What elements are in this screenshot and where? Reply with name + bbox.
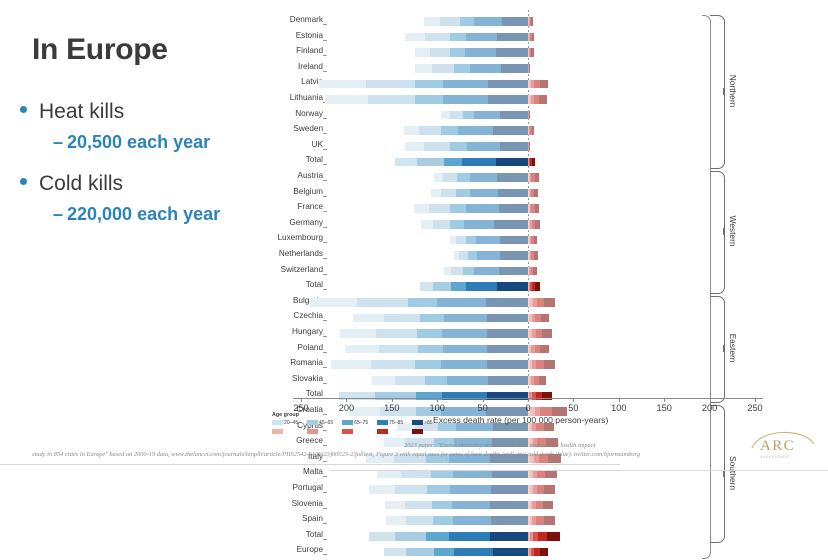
chart-row: Total bbox=[260, 154, 760, 170]
cold-segment bbox=[494, 220, 528, 229]
heat-bar bbox=[528, 64, 530, 73]
legend-item: 45–65 bbox=[307, 420, 318, 434]
chart-row: Ireland bbox=[260, 61, 760, 77]
cold-segment bbox=[490, 501, 528, 510]
page-title: In Europe bbox=[32, 33, 168, 67]
bullet-dot-icon bbox=[20, 178, 27, 185]
heat-bar bbox=[528, 111, 530, 120]
chart-row: Latvia bbox=[260, 76, 760, 92]
axis-tick bbox=[323, 508, 327, 509]
heat-segment bbox=[544, 298, 555, 307]
heat-bar bbox=[528, 298, 555, 307]
heat-bar bbox=[528, 220, 540, 229]
cold-segment bbox=[502, 17, 528, 26]
cold-segment bbox=[498, 189, 528, 198]
cold-segment bbox=[496, 48, 528, 57]
cold-segment bbox=[442, 329, 487, 338]
cold-segment bbox=[464, 220, 494, 229]
heat-segment bbox=[532, 33, 535, 42]
cold-segment bbox=[453, 516, 491, 525]
heat-bar bbox=[528, 189, 538, 198]
cold-segment bbox=[345, 345, 380, 354]
legend-cold-swatch bbox=[377, 420, 388, 425]
bullet-dot-icon bbox=[20, 106, 27, 113]
chart-row: Europe bbox=[260, 544, 760, 560]
chart-row: Total bbox=[260, 529, 760, 545]
legend-heat-swatch bbox=[412, 429, 423, 434]
cold-segment bbox=[431, 189, 441, 198]
heat-bar bbox=[528, 17, 533, 26]
cold-segment bbox=[501, 64, 528, 73]
country-label: Denmark bbox=[290, 14, 323, 25]
axis-tick bbox=[323, 180, 327, 181]
country-label: Hungary bbox=[292, 326, 323, 337]
heat-bar bbox=[528, 158, 535, 167]
legend-title: Age group bbox=[272, 412, 299, 418]
cold-segment bbox=[487, 360, 528, 369]
cold-bar bbox=[450, 236, 528, 245]
heat-bar bbox=[528, 501, 554, 510]
bullet-item: Heat kills bbox=[17, 97, 279, 127]
country-label: Portugal bbox=[293, 482, 324, 493]
cold-segment bbox=[353, 314, 384, 323]
cold-segment bbox=[427, 485, 450, 494]
chart-row: Hungary bbox=[260, 326, 760, 342]
cold-segment bbox=[450, 204, 466, 213]
cold-segment bbox=[443, 95, 488, 104]
cold-segment bbox=[487, 329, 528, 338]
heat-segment bbox=[540, 80, 548, 89]
axis-tick bbox=[323, 352, 327, 353]
legend-label: 20–45 bbox=[284, 420, 298, 426]
cold-segment bbox=[450, 142, 467, 151]
heat-bar bbox=[528, 33, 534, 42]
cold-segment bbox=[451, 282, 466, 291]
heat-segment bbox=[535, 282, 540, 291]
cold-bar bbox=[372, 376, 528, 385]
cold-segment bbox=[460, 17, 475, 26]
cold-segment bbox=[462, 158, 497, 167]
heat-segment bbox=[529, 64, 530, 73]
heat-bar bbox=[528, 267, 537, 276]
cold-segment bbox=[417, 158, 443, 167]
axis-tick bbox=[323, 211, 327, 212]
cold-segment bbox=[454, 64, 470, 73]
cold-segment bbox=[499, 267, 528, 276]
cold-segment bbox=[444, 314, 488, 323]
legend-label: >85 bbox=[424, 420, 433, 426]
cold-segment bbox=[441, 360, 487, 369]
axis-tick bbox=[323, 227, 327, 228]
heat-segment bbox=[540, 345, 548, 354]
legend-item: 65–75 bbox=[342, 420, 353, 434]
heat-segment bbox=[538, 532, 547, 541]
cold-bar bbox=[405, 33, 528, 42]
chart-row: Total bbox=[260, 279, 760, 295]
cold-segment bbox=[424, 17, 440, 26]
cold-bar bbox=[434, 173, 528, 182]
cold-segment bbox=[368, 95, 415, 104]
heat-bar bbox=[528, 532, 560, 541]
axis-tick bbox=[323, 149, 327, 150]
chart-row: Belgium bbox=[260, 186, 760, 202]
chart-row: Sweden bbox=[260, 123, 760, 139]
cold-segment bbox=[319, 80, 366, 89]
cold-segment bbox=[419, 126, 441, 135]
cold-segment bbox=[441, 126, 458, 135]
heat-segment bbox=[534, 189, 538, 198]
x-tick bbox=[392, 398, 393, 402]
axis-tick bbox=[323, 71, 327, 72]
x-tick bbox=[301, 398, 302, 402]
chart-row: Finland bbox=[260, 45, 760, 61]
cold-segment bbox=[467, 142, 500, 151]
cold-segment bbox=[493, 548, 528, 557]
outer-bracket bbox=[702, 15, 711, 559]
axis-tick bbox=[323, 258, 327, 259]
legend-heat-swatch bbox=[272, 429, 283, 434]
cold-segment bbox=[443, 80, 488, 89]
legend-cold-swatch bbox=[307, 420, 318, 425]
region-label: Western bbox=[728, 216, 738, 247]
cold-segment bbox=[415, 48, 430, 57]
bullet-list: Heat kills–20,500 each yearCold kills–22… bbox=[17, 97, 279, 241]
country-label: Belgium bbox=[293, 186, 323, 197]
cold-segment bbox=[487, 345, 528, 354]
cold-segment bbox=[466, 204, 499, 213]
cold-segment bbox=[386, 516, 406, 525]
cold-segment bbox=[369, 532, 394, 541]
arc-logo-subtext: assessment bbox=[760, 454, 789, 459]
cold-segment bbox=[421, 220, 433, 229]
cold-segment bbox=[430, 48, 450, 57]
heat-segment bbox=[544, 360, 555, 369]
x-tick bbox=[437, 398, 438, 402]
heat-segment bbox=[529, 142, 530, 151]
axis-tick bbox=[323, 492, 327, 493]
cold-segment bbox=[488, 80, 528, 89]
cold-segment bbox=[384, 314, 420, 323]
cold-segment bbox=[415, 95, 442, 104]
cold-segment bbox=[488, 95, 528, 104]
cold-segment bbox=[395, 376, 425, 385]
chart-row: UK bbox=[260, 139, 760, 155]
cold-segment bbox=[487, 314, 528, 323]
chart-row: Denmark bbox=[260, 14, 760, 30]
x-tick bbox=[573, 398, 574, 402]
heat-segment bbox=[532, 126, 534, 135]
footer-line-1: 2023 paper: "Excess mortality attributed… bbox=[404, 442, 595, 449]
heat-segment bbox=[534, 236, 538, 245]
cold-segment bbox=[443, 173, 458, 182]
cold-bar bbox=[340, 329, 528, 338]
axis-tick bbox=[323, 523, 327, 524]
legend-cold-swatch bbox=[342, 420, 353, 425]
cold-segment bbox=[466, 33, 497, 42]
cold-segment bbox=[449, 532, 490, 541]
cold-segment bbox=[491, 516, 528, 525]
legend-item: 20–45 bbox=[272, 420, 283, 434]
cold-segment bbox=[450, 33, 466, 42]
cold-segment bbox=[415, 360, 441, 369]
cold-segment bbox=[406, 548, 434, 557]
country-label: Czechia bbox=[293, 310, 323, 321]
cold-bar bbox=[415, 48, 528, 57]
cold-segment bbox=[463, 111, 475, 120]
cold-segment bbox=[384, 548, 407, 557]
cold-segment bbox=[497, 33, 528, 42]
cold-segment bbox=[468, 251, 477, 260]
country-label: Europe bbox=[297, 544, 323, 555]
heat-bar bbox=[528, 48, 534, 57]
cold-bar bbox=[444, 267, 528, 276]
x-tick-label: 200 bbox=[702, 403, 717, 413]
cold-segment bbox=[432, 501, 452, 510]
cold-segment bbox=[379, 345, 418, 354]
cold-segment bbox=[310, 298, 357, 307]
country-label: UK bbox=[312, 139, 323, 150]
cold-bar bbox=[331, 360, 528, 369]
cold-segment bbox=[420, 282, 433, 291]
country-label: Romania bbox=[290, 357, 323, 368]
heat-segment bbox=[537, 298, 545, 307]
country-label: Total bbox=[306, 279, 323, 290]
cold-bar bbox=[414, 204, 528, 213]
heat-segment bbox=[541, 314, 550, 323]
heat-segment bbox=[531, 48, 533, 57]
cold-segment bbox=[366, 80, 415, 89]
chart-row: Lithuania bbox=[260, 92, 760, 108]
axis-tick bbox=[323, 320, 327, 321]
cold-segment bbox=[490, 532, 528, 541]
cold-bar bbox=[405, 142, 528, 151]
cold-segment bbox=[357, 298, 408, 307]
cold-segment bbox=[488, 376, 528, 385]
cold-bar bbox=[441, 111, 528, 120]
legend-item: >85 bbox=[412, 420, 423, 434]
cold-segment bbox=[500, 111, 528, 120]
heat-bar bbox=[528, 485, 555, 494]
cold-bar bbox=[345, 345, 528, 354]
heat-segment bbox=[534, 251, 538, 260]
cold-bar bbox=[415, 64, 528, 73]
cold-segment bbox=[444, 158, 462, 167]
country-label: Lithuania bbox=[290, 92, 323, 103]
chart-row: Spain bbox=[260, 513, 760, 529]
country-label: Spain bbox=[302, 513, 323, 524]
bullet-item: Cold kills bbox=[17, 169, 279, 199]
heat-bar bbox=[528, 360, 555, 369]
heat-bar bbox=[528, 345, 549, 354]
x-tick bbox=[346, 398, 347, 402]
chart-row: Luxembourg bbox=[260, 232, 760, 248]
country-label: Austria bbox=[298, 170, 323, 181]
country-label: Total bbox=[306, 154, 323, 165]
cold-segment bbox=[450, 111, 463, 120]
cold-segment bbox=[450, 220, 465, 229]
legend-heat-swatch bbox=[342, 429, 353, 434]
cold-segment bbox=[450, 485, 491, 494]
cold-segment bbox=[456, 236, 466, 245]
heat-bar bbox=[528, 329, 552, 338]
cold-segment bbox=[385, 501, 405, 510]
cold-segment bbox=[496, 158, 528, 167]
region-brackets: NorthernWesternEasternSouthern bbox=[708, 6, 760, 398]
country-label: Poland bbox=[298, 342, 324, 353]
cold-segment bbox=[395, 532, 427, 541]
heat-segment bbox=[544, 485, 555, 494]
chart-row: France bbox=[260, 201, 760, 217]
cold-segment bbox=[500, 142, 528, 151]
cold-bar bbox=[310, 298, 528, 307]
cold-segment bbox=[470, 64, 501, 73]
cold-segment bbox=[405, 33, 426, 42]
heat-segment bbox=[536, 501, 543, 510]
slide-canvas: In Europe Heat kills–20,500 each yearCol… bbox=[0, 0, 828, 474]
legend-heat-swatch bbox=[307, 429, 318, 434]
heat-bar bbox=[528, 142, 530, 151]
cold-segment bbox=[470, 173, 497, 182]
cold-bar bbox=[353, 314, 528, 323]
cold-segment bbox=[433, 220, 450, 229]
axis-tick bbox=[323, 242, 327, 243]
heat-bar bbox=[528, 251, 538, 260]
cold-segment bbox=[425, 376, 447, 385]
cold-segment bbox=[404, 126, 419, 135]
cold-segment bbox=[418, 345, 443, 354]
cold-segment bbox=[414, 204, 429, 213]
cold-segment bbox=[415, 80, 442, 89]
axis-tick bbox=[323, 476, 327, 477]
cold-segment bbox=[474, 17, 501, 26]
heat-segment bbox=[547, 532, 560, 541]
axis-tick bbox=[323, 367, 327, 368]
cold-bar bbox=[454, 251, 528, 260]
footer-divider-2 bbox=[330, 470, 828, 471]
chart-row: Switzerland bbox=[260, 264, 760, 280]
heat-bar bbox=[528, 376, 546, 385]
heat-segment bbox=[532, 158, 535, 167]
country-label: Netherlands bbox=[279, 248, 323, 259]
country-label: Ireland bbox=[298, 61, 323, 72]
heat-bar bbox=[528, 516, 555, 525]
cold-bar bbox=[319, 80, 528, 89]
heat-bar bbox=[528, 126, 534, 135]
cold-segment bbox=[417, 329, 442, 338]
cold-bar bbox=[404, 126, 528, 135]
cold-segment bbox=[444, 267, 451, 276]
chart-row: Norway bbox=[260, 108, 760, 124]
cold-segment bbox=[408, 298, 437, 307]
heat-segment bbox=[539, 95, 547, 104]
heat-segment bbox=[536, 360, 544, 369]
x-tick bbox=[619, 398, 620, 402]
heat-segment bbox=[535, 204, 540, 213]
heat-segment bbox=[544, 516, 555, 525]
country-label: Sweden bbox=[293, 123, 323, 134]
cold-segment bbox=[474, 267, 499, 276]
axis-tick bbox=[323, 24, 327, 25]
chart-row: Portugal bbox=[260, 482, 760, 498]
left-text-pane: In Europe Heat kills–20,500 each yearCol… bbox=[0, 0, 276, 420]
axis-tick bbox=[323, 289, 327, 290]
cold-segment bbox=[477, 251, 500, 260]
cold-segment bbox=[340, 329, 376, 338]
cold-segment bbox=[331, 360, 371, 369]
chart-row: Austria bbox=[260, 170, 760, 186]
cold-segment bbox=[395, 158, 417, 167]
bullet-label: Cold kills bbox=[39, 169, 279, 199]
chart-row: Netherlands bbox=[260, 248, 760, 264]
cold-segment bbox=[434, 548, 454, 557]
arc-logo: ARC assessment bbox=[746, 424, 820, 464]
country-label: Finland bbox=[296, 45, 323, 56]
heat-bar bbox=[528, 95, 547, 104]
cold-segment bbox=[463, 267, 474, 276]
cold-segment bbox=[371, 360, 415, 369]
heat-bar bbox=[528, 173, 539, 182]
x-tick bbox=[664, 398, 665, 402]
cold-bar bbox=[421, 220, 528, 229]
chart-row: Bulgaria bbox=[260, 295, 760, 311]
cold-segment bbox=[491, 485, 528, 494]
heat-segment bbox=[539, 376, 546, 385]
x-tick bbox=[528, 398, 529, 402]
chart-row: Estonia bbox=[260, 30, 760, 46]
axis-tick bbox=[323, 274, 327, 275]
axis-tick bbox=[323, 336, 327, 337]
cold-segment bbox=[440, 17, 460, 26]
axis-tick bbox=[323, 40, 327, 41]
cold-segment bbox=[420, 314, 444, 323]
bullet-label: Heat kills bbox=[39, 97, 279, 127]
cold-segment bbox=[325, 95, 369, 104]
axis-tick bbox=[323, 539, 327, 540]
cold-segment bbox=[433, 516, 453, 525]
cold-segment bbox=[395, 485, 427, 494]
cold-segment bbox=[376, 329, 417, 338]
cold-segment bbox=[476, 236, 500, 245]
axis-tick bbox=[323, 164, 327, 165]
country-label: Total bbox=[306, 529, 323, 540]
cold-segment bbox=[372, 376, 396, 385]
cold-segment bbox=[369, 485, 395, 494]
cold-segment bbox=[433, 282, 451, 291]
x-tick-label: 150 bbox=[657, 403, 672, 413]
cold-bar bbox=[420, 282, 528, 291]
country-label: Norway bbox=[295, 108, 323, 119]
heat-segment bbox=[542, 329, 552, 338]
heat-segment bbox=[531, 17, 533, 26]
country-label: France bbox=[298, 201, 323, 212]
cold-segment bbox=[497, 173, 528, 182]
bullet-subitem: –20,500 each year bbox=[17, 129, 279, 155]
footer-line-2: study in 854 cities in Europe" based on … bbox=[32, 451, 640, 458]
sub-label: 220,000 each year bbox=[67, 204, 220, 224]
country-label: Slovenia bbox=[292, 498, 323, 509]
cold-bar bbox=[395, 158, 528, 167]
cold-segment bbox=[465, 48, 496, 57]
cold-segment bbox=[447, 376, 488, 385]
axis-tick bbox=[323, 554, 327, 555]
cold-segment bbox=[415, 64, 431, 73]
legend-label: 65–75 bbox=[354, 420, 368, 426]
cold-segment bbox=[499, 204, 528, 213]
legend-cold-swatch bbox=[272, 420, 283, 425]
cold-bar bbox=[386, 516, 528, 525]
cold-segment bbox=[441, 111, 450, 120]
cold-segment bbox=[406, 516, 432, 525]
